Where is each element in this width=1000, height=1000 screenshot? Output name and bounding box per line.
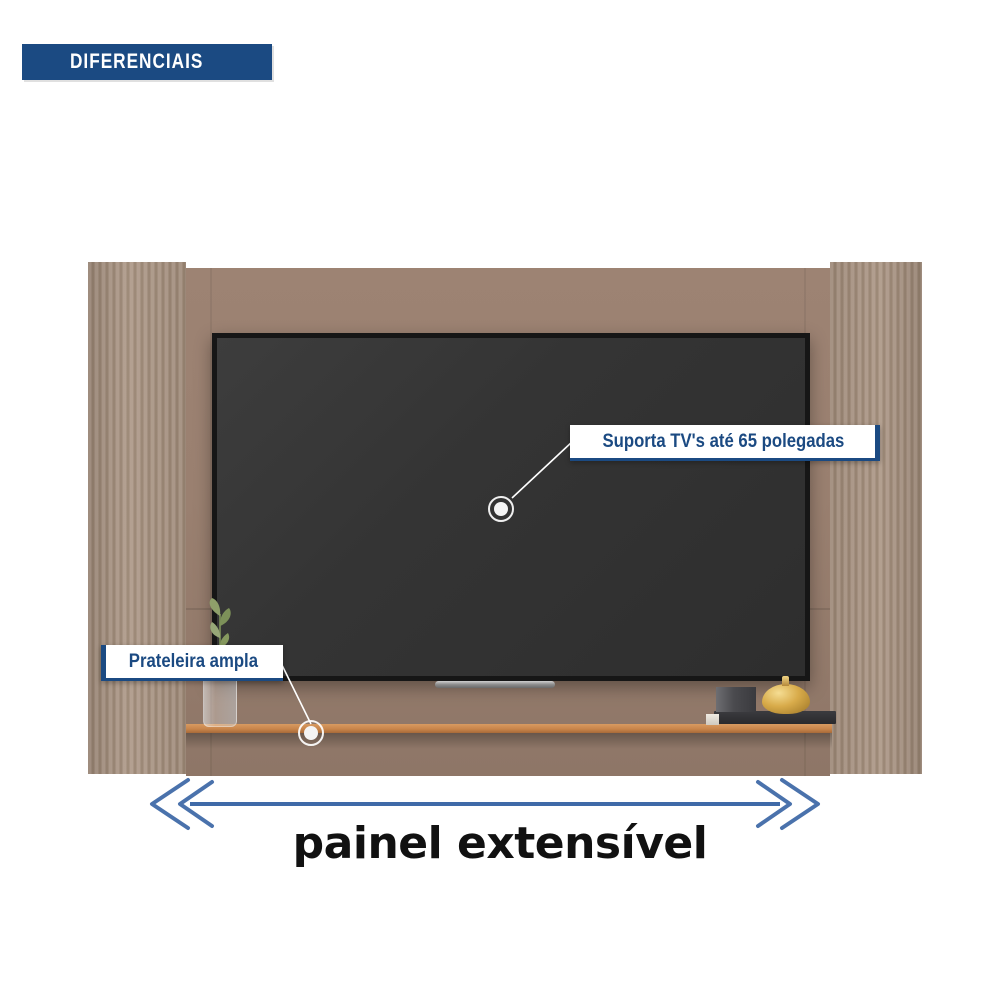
extensible-caption: painel extensível xyxy=(0,818,1000,869)
callout-marker-shelf-icon[interactable] xyxy=(298,720,324,746)
callout-wide-shelf[interactable]: Prateleira ampla xyxy=(101,645,283,681)
product-scene: Suporta TV's até 65 polegadas Prateleira… xyxy=(0,0,1000,1000)
marker-dot xyxy=(304,726,318,740)
callout-wide-shelf-label: Prateleira ampla xyxy=(129,651,258,673)
callout-tv-support[interactable]: Suporta TV's até 65 polegadas xyxy=(570,425,880,461)
marker-dot xyxy=(494,502,508,516)
callout-marker-tv-icon[interactable] xyxy=(488,496,514,522)
callout-tv-support-label: Suporta TV's até 65 polegadas xyxy=(602,431,844,453)
